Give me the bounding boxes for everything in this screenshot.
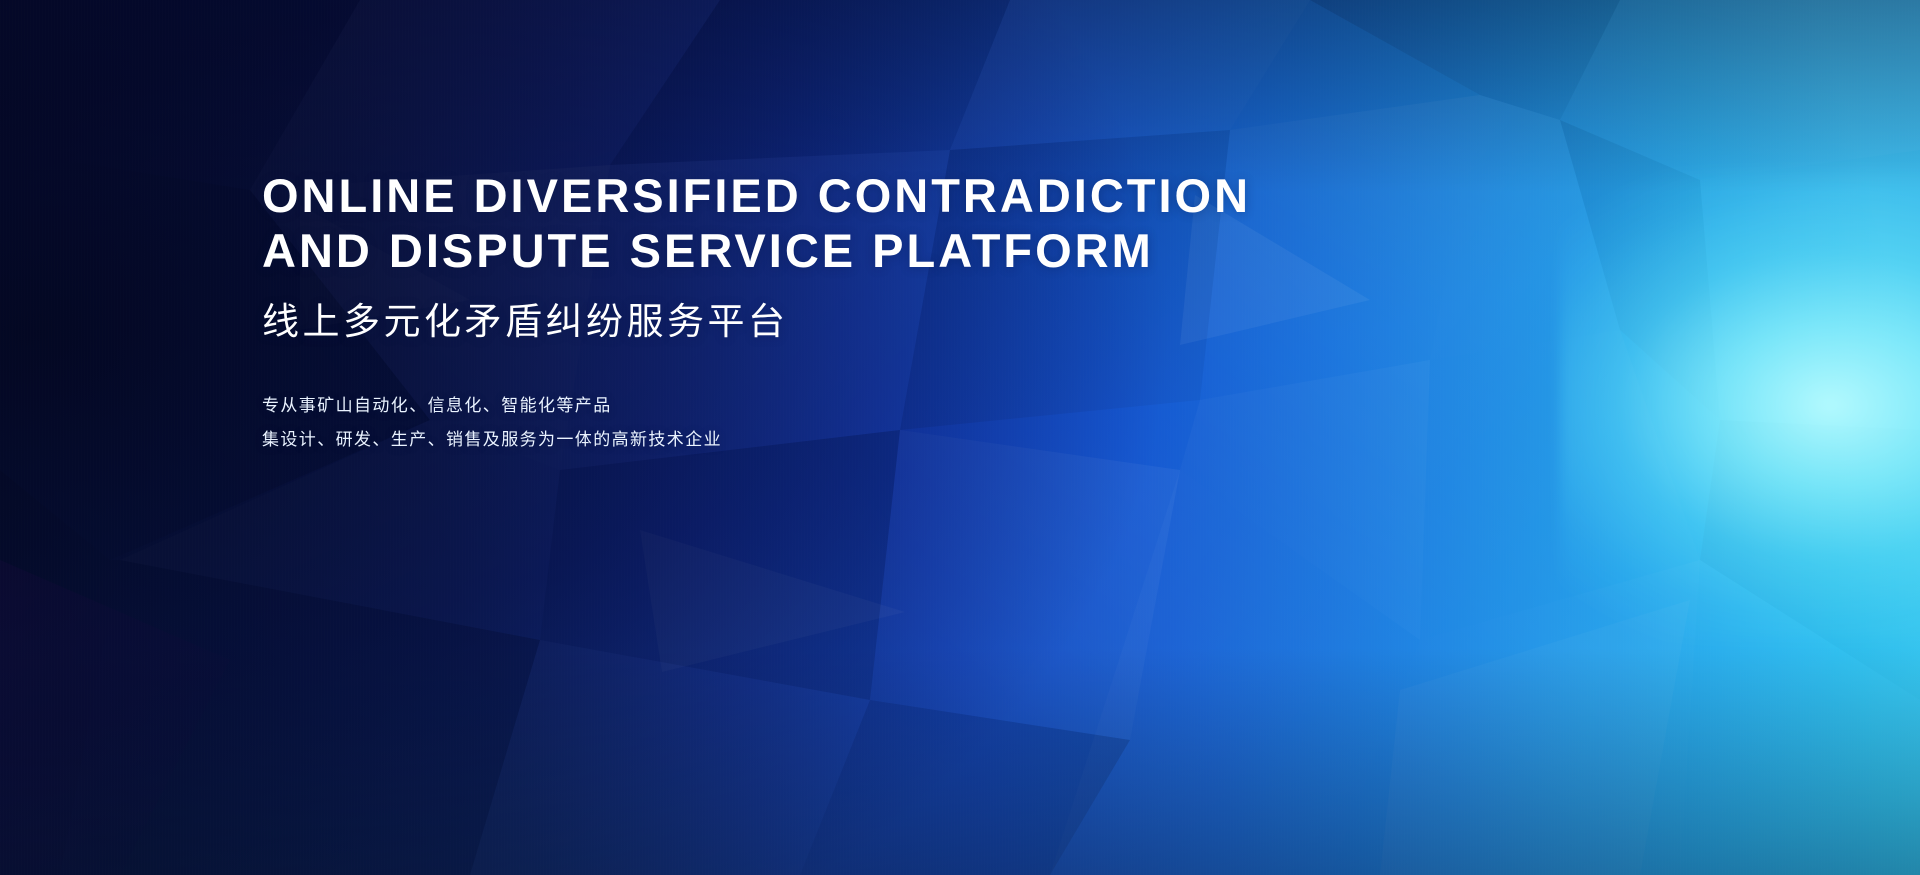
page-subtitle: 线上多元化矛盾纠纷服务平台 [262,299,1382,345]
page-title-line-1: ONLINE DIVERSIFIED CONTRADICTION [262,168,1382,223]
company-description-line-2: 集设计、研发、生产、销售及服务为一体的高新技术企业 [262,423,1382,457]
page-title: ONLINE DIVERSIFIED CONTRADICTION AND DIS… [262,168,1382,278]
company-description-line-1: 专从事矿山自动化、信息化、智能化等产品 [262,389,1382,423]
hero-content: ONLINE DIVERSIFIED CONTRADICTION AND DIS… [262,168,1382,457]
company-description: 专从事矿山自动化、信息化、智能化等产品 集设计、研发、生产、销售及服务为一体的高… [262,389,1382,457]
page-title-line-2: AND DISPUTE SERVICE PLATFORM [262,223,1382,278]
hero-banner: ONLINE DIVERSIFIED CONTRADICTION AND DIS… [0,0,1920,875]
